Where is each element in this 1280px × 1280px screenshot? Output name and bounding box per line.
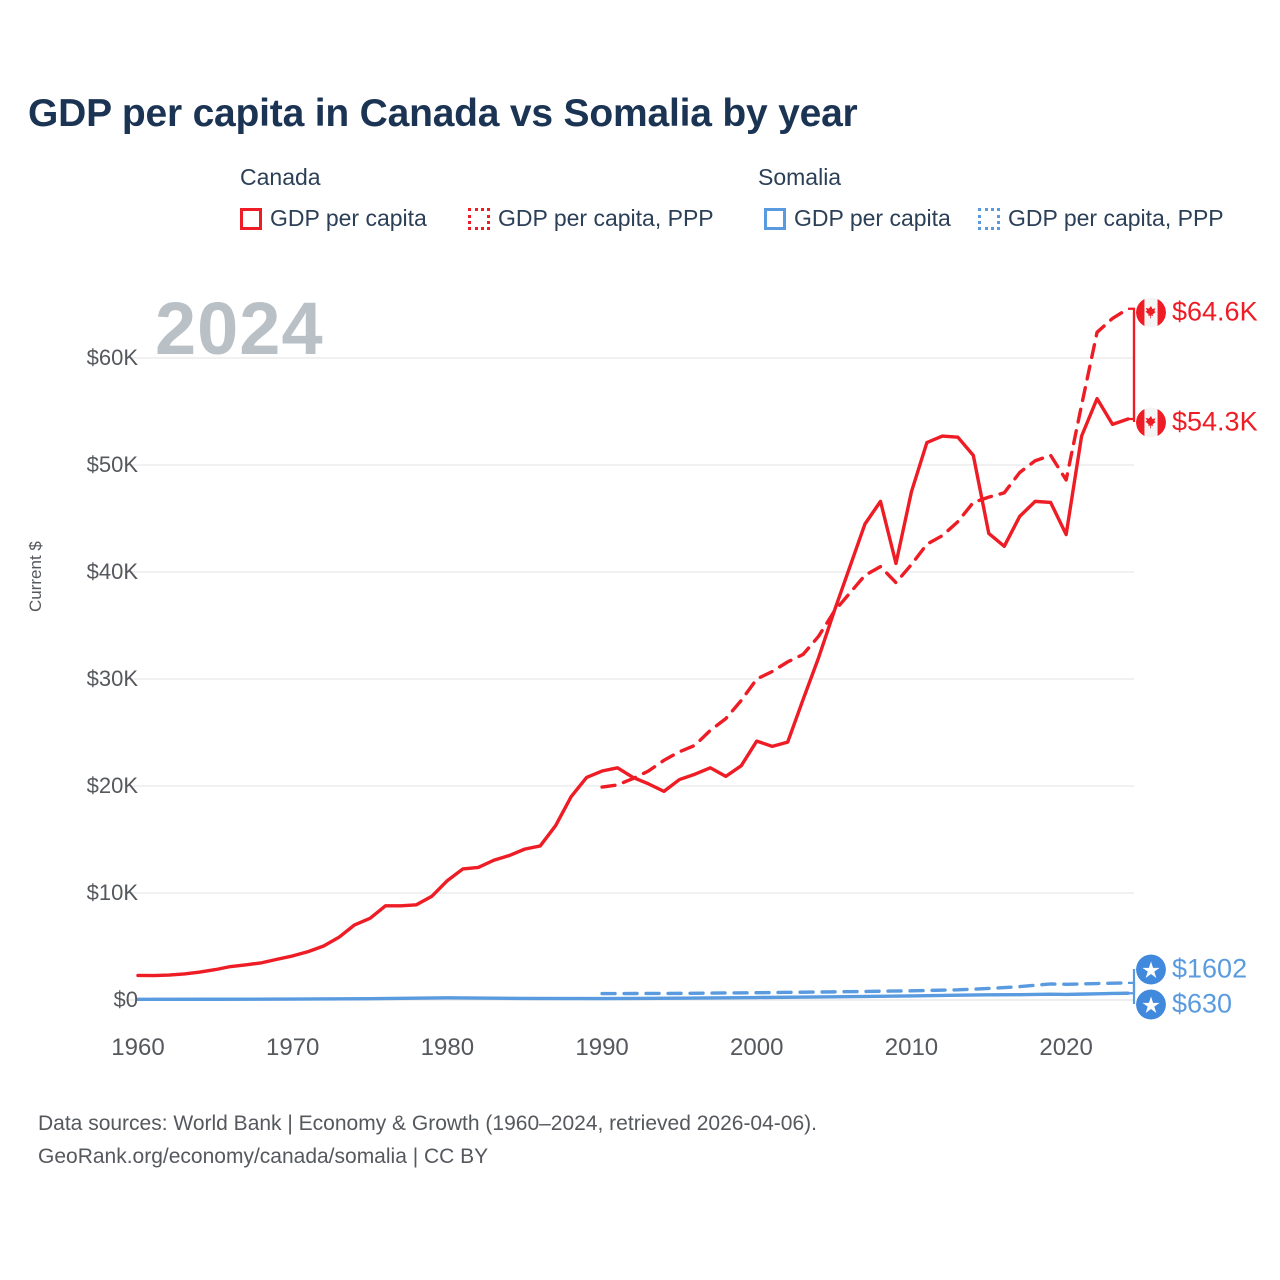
x-tick-label: 1960 — [111, 1034, 164, 1062]
y-tick-label: $60K — [38, 345, 138, 371]
end-value-label: $630 — [1136, 989, 1232, 1020]
footer: Data sources: World Bank | Economy & Gro… — [38, 1108, 817, 1173]
x-tick-label: 2020 — [1039, 1034, 1092, 1062]
chart-canvas — [0, 0, 1280, 1280]
x-tick-label: 1990 — [575, 1034, 628, 1062]
end-value-label: $64.6K — [1136, 297, 1258, 328]
end-value-label: $54.3K — [1136, 407, 1258, 438]
y-tick-label: $10K — [38, 880, 138, 906]
canada-flag-icon — [1136, 407, 1166, 437]
series-line — [602, 309, 1128, 787]
series-line — [138, 399, 1128, 976]
x-tick-label: 1980 — [421, 1034, 474, 1062]
series-line — [602, 983, 1128, 994]
footer-line-sources: Data sources: World Bank | Economy & Gro… — [38, 1108, 817, 1141]
series-lines — [138, 309, 1128, 1000]
gridlines — [126, 358, 1134, 1000]
y-tick-label: $20K — [38, 773, 138, 799]
footer-line-attribution[interactable]: GeoRank.org/economy/canada/somalia | CC … — [38, 1141, 817, 1174]
y-tick-label: $50K — [38, 452, 138, 478]
y-tick-label: $0 — [38, 987, 138, 1013]
end-value-text: $630 — [1172, 989, 1232, 1020]
end-value-label: $1602 — [1136, 954, 1247, 985]
x-tick-label: 1970 — [266, 1034, 319, 1062]
end-value-text: $64.6K — [1172, 297, 1258, 328]
label-connectors — [1128, 309, 1134, 1004]
end-label-connector — [1128, 309, 1134, 422]
canada-flag-icon — [1136, 297, 1166, 327]
somalia-flag-icon — [1136, 954, 1166, 984]
y-tick-label: $30K — [38, 666, 138, 692]
end-value-text: $54.3K — [1172, 407, 1258, 438]
end-value-text: $1602 — [1172, 954, 1247, 985]
chart-page: GDP per capita in Canada vs Somalia by y… — [0, 0, 1280, 1280]
y-axis-ticks: $0$10K$20K$30K$40K$50K$60K — [0, 0, 138, 1280]
x-tick-label: 2000 — [730, 1034, 783, 1062]
y-tick-label: $40K — [38, 559, 138, 585]
somalia-flag-icon — [1136, 989, 1166, 1019]
x-tick-label: 2010 — [885, 1034, 938, 1062]
